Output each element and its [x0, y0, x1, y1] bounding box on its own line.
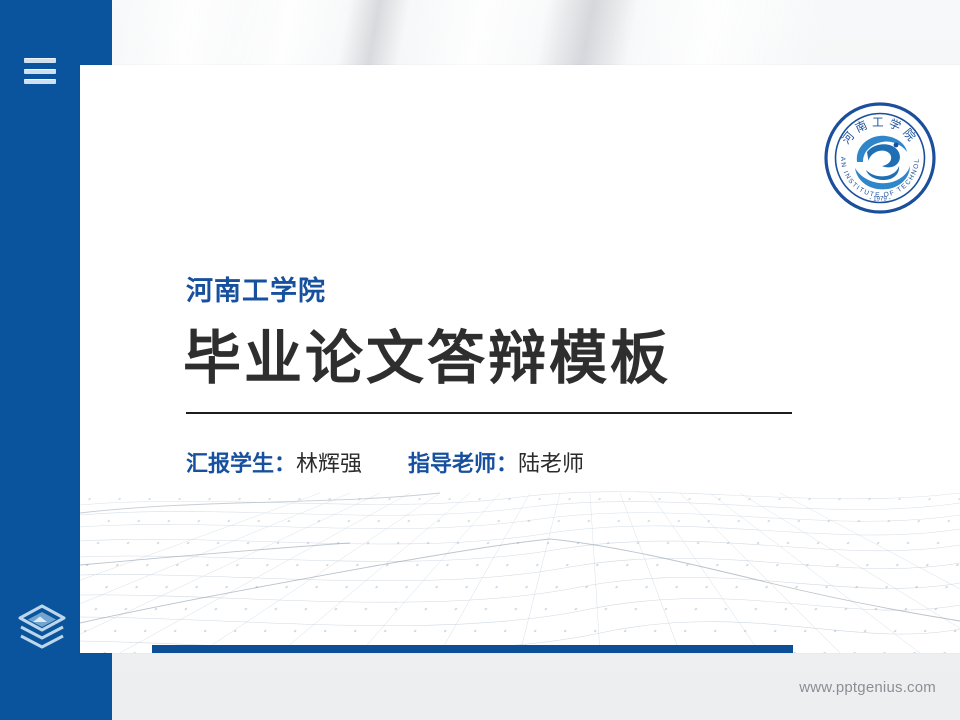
advisor-name: 陆老师 — [518, 451, 584, 476]
menu-bar — [24, 69, 56, 74]
university-seal-logo: 河南工学院 HENAN INSTITUTE OF TECHNOLOGY - 19… — [822, 100, 938, 216]
school-name: 河南工学院 — [186, 269, 326, 308]
wireframe-mesh-terrain — [80, 453, 960, 653]
presenter-and-advisor: 汇报学生：林辉强指导老师：陆老师 — [186, 446, 584, 478]
hamburger-menu-icon[interactable] — [24, 58, 56, 84]
stacked-layers-icon[interactable] — [14, 600, 70, 652]
slide-viewer: 河南工学院 HENAN INSTITUTE OF TECHNOLOGY - 19… — [0, 0, 960, 720]
presenter-name: 林辉强 — [296, 451, 362, 476]
page-title: 毕业论文答辩模板 — [183, 311, 671, 395]
presenter-label: 汇报学生： — [186, 451, 296, 476]
advisor-label: 指导老师： — [408, 451, 518, 476]
menu-bar — [24, 58, 56, 63]
footer-website-url[interactable]: www.pptgenius.com — [799, 679, 936, 696]
menu-bar — [24, 79, 56, 84]
svg-text:- 1979 -: - 1979 - — [869, 196, 890, 203]
presentation-slide[interactable]: 河南工学院 HENAN INSTITUTE OF TECHNOLOGY - 19… — [80, 65, 960, 653]
title-divider — [186, 412, 792, 414]
slide-bottom-accent-bar — [152, 645, 793, 653]
